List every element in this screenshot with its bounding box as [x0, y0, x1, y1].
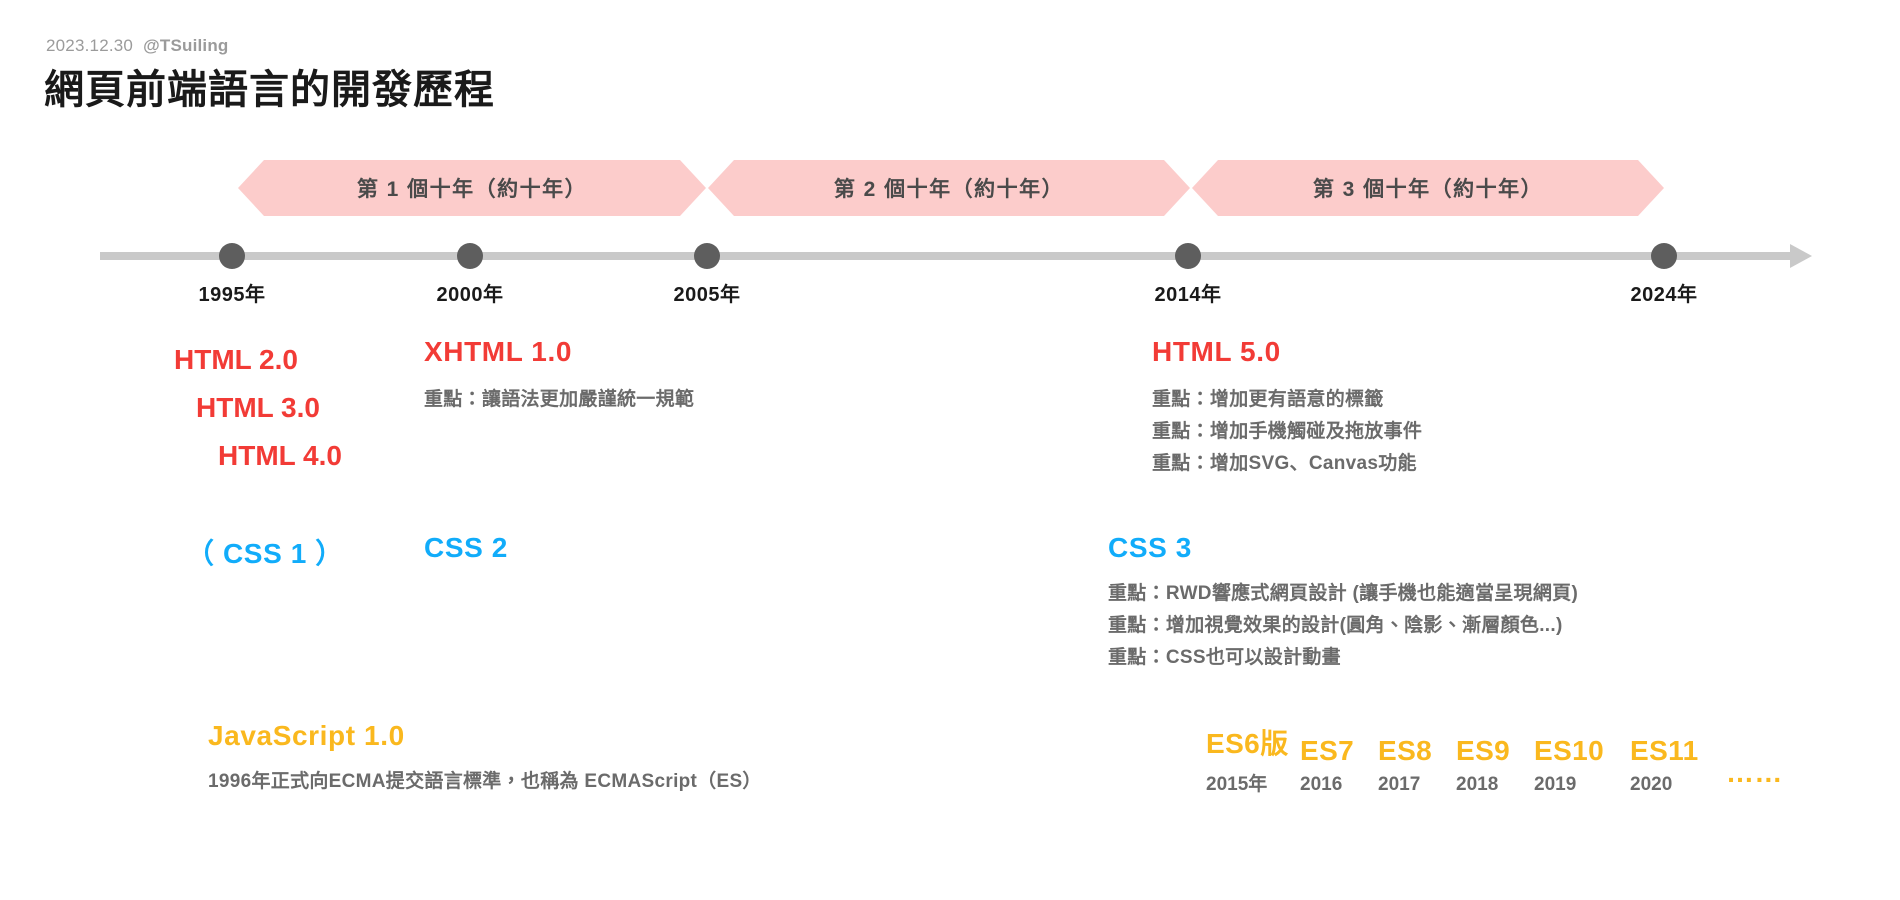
es6-year: 2015年: [1206, 769, 1267, 796]
css3-block: CSS 3 重點：RWD響應式網頁設計 (讓手機也能適當呈現網頁) 重點：增加視…: [1108, 532, 1578, 674]
es-version-es7: ES7 2016: [1300, 735, 1378, 796]
es10-name: ES10: [1534, 735, 1604, 767]
html-version-2: HTML 2.0: [174, 336, 342, 384]
html-version-3: HTML 3.0: [174, 384, 342, 432]
css3-note-1: 重點：RWD響應式網頁設計 (讓手機也能適當呈現網頁): [1108, 578, 1578, 610]
es-version-es10: ES10 2019: [1534, 735, 1630, 796]
xhtml-note-1: 重點：讓語法更加嚴謹統一規範: [424, 384, 694, 416]
timeline-year-2000: 2000年: [437, 278, 504, 307]
infographic-canvas: 2023.12.30@TSuiling 網頁前端語言的開發歷程 第 1 個十年（…: [0, 0, 1900, 900]
xhtml-title: XHTML 1.0: [424, 336, 694, 368]
css2-block: CSS 2: [424, 532, 508, 564]
es-more-name: ……: [1726, 757, 1783, 789]
decade-arrow-2-label: 第 2 個十年（約十年）: [834, 173, 1064, 203]
es7-year: 2016: [1300, 774, 1342, 796]
es7-name: ES7: [1300, 735, 1354, 767]
es-version-es8: ES8 2017: [1378, 735, 1456, 796]
timeline-dot-2014: [1175, 243, 1201, 269]
timeline-dot-2000: [457, 243, 483, 269]
timeline-year-1995: 1995年: [199, 278, 266, 307]
css3-note-3: 重點：CSS也可以設計動畫: [1108, 642, 1578, 674]
decade-arrow-1-label: 第 1 個十年（約十年）: [357, 173, 587, 203]
byline: 2023.12.30@TSuiling: [46, 36, 229, 56]
es8-name: ES8: [1378, 735, 1432, 767]
es9-name: ES9: [1456, 735, 1510, 767]
javascript-title: JavaScript 1.0: [208, 720, 762, 752]
html-early-versions-block: HTML 2.0 HTML 3.0 HTML 4.0: [174, 336, 342, 480]
es6-name: ES6版: [1206, 722, 1289, 762]
timeline-year-2014: 2014年: [1155, 278, 1222, 307]
timeline-year-2005: 2005年: [674, 278, 741, 307]
decade-arrow-1: 第 1 個十年（約十年）: [238, 160, 706, 216]
decade-arrow-3: 第 3 個十年（約十年）: [1192, 160, 1664, 216]
es-version-es9: ES9 2018: [1456, 735, 1534, 796]
decade-arrow-row: 第 1 個十年（約十年） 第 2 個十年（約十年） 第 3 個十年（約十年）: [0, 160, 1900, 216]
timeline-axis: [100, 252, 1800, 260]
css3-title: CSS 3: [1108, 532, 1578, 564]
es-version-more: ……: [1726, 757, 1783, 796]
timeline-year-2024: 2024年: [1631, 278, 1698, 307]
html5-block: HTML 5.0 重點：增加更有語意的標籤 重點：增加手機觸碰及拖放事件 重點：…: [1152, 336, 1422, 480]
timeline-dot-2024: [1651, 243, 1677, 269]
timeline-arrow-head-icon: [1790, 244, 1812, 268]
xhtml-block: XHTML 1.0 重點：讓語法更加嚴謹統一規範: [424, 336, 694, 416]
page-title: 網頁前端語言的開發歷程: [44, 57, 495, 115]
css1-block: （ CSS 1 ）: [186, 532, 344, 572]
css1-title: （ CSS 1 ）: [186, 532, 344, 572]
decade-arrow-2: 第 2 個十年（約十年）: [708, 160, 1190, 216]
es8-year: 2017: [1378, 774, 1420, 796]
author-handle: @TSuiling: [143, 36, 228, 55]
es9-year: 2018: [1456, 774, 1498, 796]
css2-title: CSS 2: [424, 532, 508, 564]
timeline-dot-1995: [219, 243, 245, 269]
es-version-es11: ES11 2020: [1630, 735, 1726, 796]
javascript-block: JavaScript 1.0 1996年正式向ECMA提交語言標準，也稱為 EC…: [208, 720, 762, 798]
html5-title: HTML 5.0: [1152, 336, 1422, 368]
javascript-note-1: 1996年正式向ECMA提交語言標準，也稱為 ECMAScript（ES）: [208, 766, 762, 798]
html-version-4: HTML 4.0: [174, 432, 342, 480]
html5-note-1: 重點：增加更有語意的標籤: [1152, 384, 1422, 416]
css3-note-2: 重點：增加視覺效果的設計(圓角、陰影、漸層顏色...): [1108, 610, 1578, 642]
decade-arrow-3-label: 第 3 個十年（約十年）: [1313, 173, 1543, 203]
publish-date: 2023.12.30: [46, 36, 133, 55]
timeline-dot-2005: [694, 243, 720, 269]
es-versions-row: ES6版 2015年 ES7 2016 ES8 2017 ES9 2018 ES…: [1206, 722, 1783, 796]
es11-year: 2020: [1630, 774, 1672, 796]
es10-year: 2019: [1534, 774, 1576, 796]
es11-name: ES11: [1630, 735, 1699, 767]
html5-note-2: 重點：增加手機觸碰及拖放事件: [1152, 416, 1422, 448]
es-version-es6: ES6版 2015年: [1206, 722, 1300, 796]
html5-note-3: 重點：增加SVG、Canvas功能: [1152, 448, 1422, 480]
